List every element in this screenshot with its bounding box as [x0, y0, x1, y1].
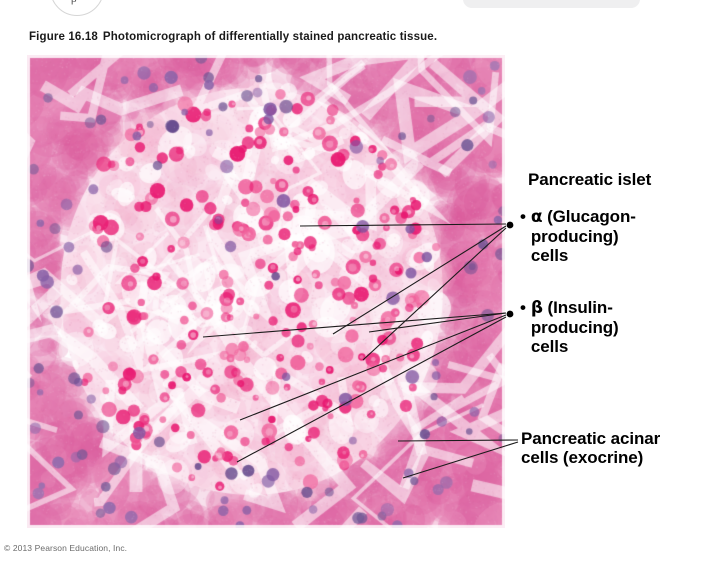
alpha-line3: cells: [531, 246, 568, 265]
beta-symbol: β: [531, 298, 543, 318]
acinar-line1: Pancreatic acinar: [521, 429, 660, 448]
beta-line2: producing): [531, 318, 619, 337]
beta-line3: cells: [531, 337, 568, 356]
alpha-line2: producing): [531, 227, 619, 246]
bullet-icon: •: [520, 207, 526, 265]
alpha-line1: (Glucagon-: [542, 207, 635, 226]
label-acinar-cells: Pancreatic acinar cells (exocrine): [521, 429, 720, 467]
label-pancreatic-islet: Pancreatic islet: [528, 170, 651, 189]
beta-line1: (Insulin-: [543, 298, 613, 317]
leader-beta-endpoint-dot: [507, 311, 514, 318]
label-beta-cells: • β (Insulin- producing) cells: [520, 298, 715, 356]
photomicrograph-canvas: [27, 55, 505, 528]
copyright-notice: © 2013 Pearson Education, Inc.: [4, 543, 127, 553]
toolbar-pill-button[interactable]: [463, 0, 640, 8]
bullet-icon: •: [520, 298, 526, 356]
alpha-symbol: α: [531, 207, 543, 227]
avatar-glyph: β: [71, 0, 77, 5]
acinar-line2: cells (exocrine): [521, 448, 643, 467]
avatar[interactable]: [50, 0, 104, 16]
figure-caption-text: Photomicrograph of differentially staine…: [103, 31, 437, 43]
photomicrograph-image: [27, 55, 505, 528]
leader-alpha-endpoint-dot: [507, 222, 514, 229]
label-alpha-cells: • α (Glucagon- producing) cells: [520, 207, 715, 265]
figure-caption: Figure 16.18Photomicrograph of different…: [29, 31, 437, 43]
figure-number: Figure 16.18: [29, 31, 98, 43]
top-chrome-strip: β: [0, 0, 720, 22]
